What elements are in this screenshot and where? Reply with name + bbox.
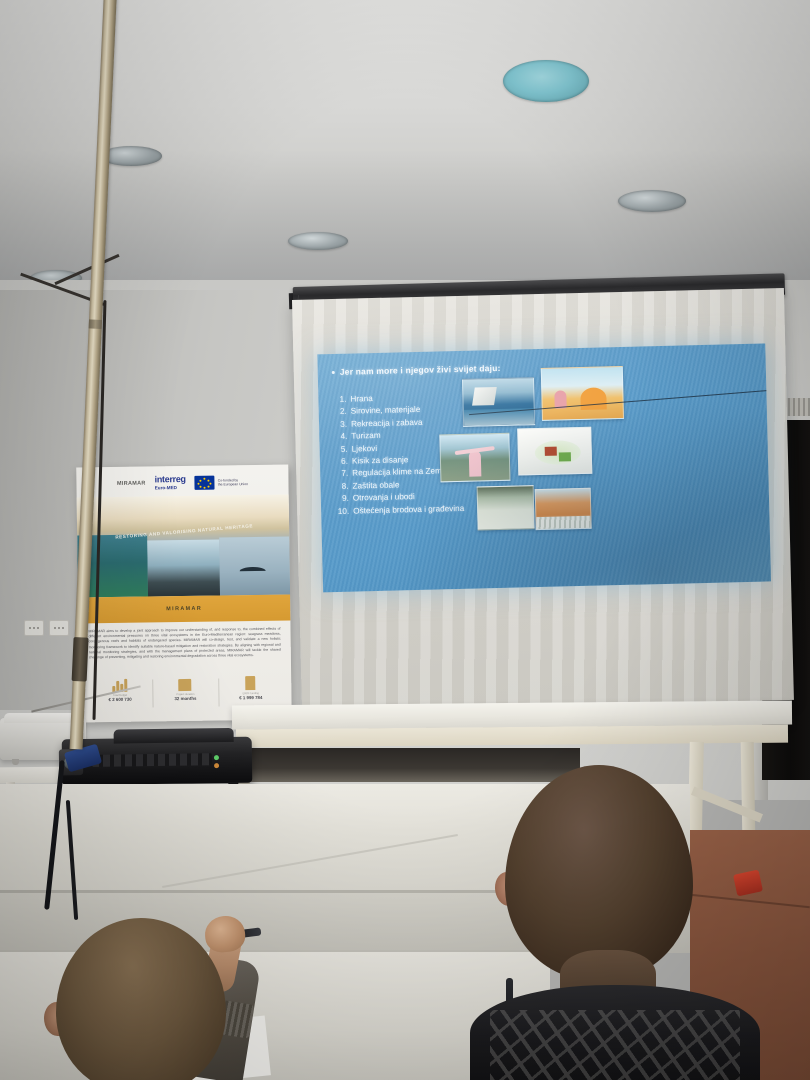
ceiling-light-icon [618, 190, 686, 212]
interreg-logo-line2: Euro-MED [155, 485, 177, 490]
list-item-number: 5. [334, 443, 348, 456]
under-table-shadow [250, 748, 580, 782]
stat-duration: Project duration 32 months [152, 675, 218, 714]
rocky-shore-photo [535, 488, 592, 530]
hero-bird-panel [219, 537, 290, 596]
projection-screen[interactable]: Jer nam more i njegov živi svijet daju: … [292, 288, 794, 712]
document-icon [218, 674, 284, 691]
poster-project-name: MIRAMAR [166, 606, 202, 613]
fishing-boat-photo [462, 377, 535, 427]
list-item-number: 1. [332, 394, 346, 407]
poster-title-band: MIRAMAR [78, 595, 290, 624]
list-item-number: 10. [335, 505, 349, 518]
stat-value: € 1 999 784 [218, 695, 283, 701]
list-item-number: 6. [334, 456, 348, 469]
poster-hero-image: RESTORING AND VALORISING NATURAL HERITAG… [77, 495, 290, 598]
pole-tape-wrap [72, 637, 89, 682]
list-item-label: Ljekovi [352, 443, 378, 456]
list-item-label: Zaštita obale [352, 479, 399, 493]
slide-bullet-icon [332, 371, 335, 374]
wall-socket[interactable] [24, 620, 44, 636]
miramar-poster: MIRAMAR interreg Euro-MED Co-funded by t… [76, 465, 292, 723]
poster-body-text: MIRAMAR aims to develop a joint approach… [88, 627, 280, 661]
eu-flag-icon [195, 476, 215, 490]
interreg-logo-line1: interreg [155, 473, 186, 483]
calendar-icon [152, 675, 218, 692]
wall-socket[interactable] [49, 620, 69, 636]
wall-sockets[interactable] [24, 620, 70, 636]
ceiling-light-icon [503, 60, 589, 102]
person-arms-raised-photo [439, 433, 510, 483]
eu-funding-line2: the European Union [218, 482, 248, 486]
student-right-shirt-pattern [490, 1010, 740, 1080]
projector-top-cover [114, 728, 234, 744]
list-item-number: 8. [334, 481, 348, 494]
projector-ports[interactable] [92, 753, 212, 767]
list-item-label: Hrana [350, 393, 373, 406]
poster-description: MIRAMAR aims to develop a joint approach… [88, 627, 280, 661]
list-item-label: Rekreacija i zabava [351, 417, 423, 431]
beach-people-photo [541, 366, 624, 421]
pole-joint [89, 319, 102, 329]
list-item-label: Regulacija klime na Zemlji [352, 466, 447, 481]
list-item-number: 3. [333, 419, 347, 432]
eu-funding-text: Co-funded by the European Union [218, 478, 248, 487]
list-item-number: 4. [333, 431, 347, 444]
stat-value: 32 months [153, 696, 218, 702]
poster-logo-row: MIRAMAR interreg Euro-MED Co-funded by t… [76, 469, 288, 498]
hero-seabed-panel [147, 540, 220, 597]
waves-coastline-photo [477, 485, 535, 530]
list-item-number: 7. [334, 468, 348, 481]
projector-status-led [214, 755, 219, 760]
list-item-number: 2. [333, 406, 347, 419]
classroom-scene: Jer nam more i njegov živi svijet daju: … [0, 0, 810, 1080]
miramar-logo: MIRAMAR [117, 481, 146, 487]
eu-funding-logo: Co-funded by the European Union [195, 475, 248, 490]
ceiling-light-icon [288, 232, 348, 250]
projected-slide: Jer nam more i njegov živi svijet daju: … [317, 343, 771, 592]
interreg-logo: interreg Euro-MED [155, 474, 186, 491]
list-item-label: Turizam [351, 430, 381, 443]
climate-diagram-photo [517, 427, 592, 476]
list-item-number: 9. [335, 493, 349, 506]
device-foot [12, 759, 19, 765]
